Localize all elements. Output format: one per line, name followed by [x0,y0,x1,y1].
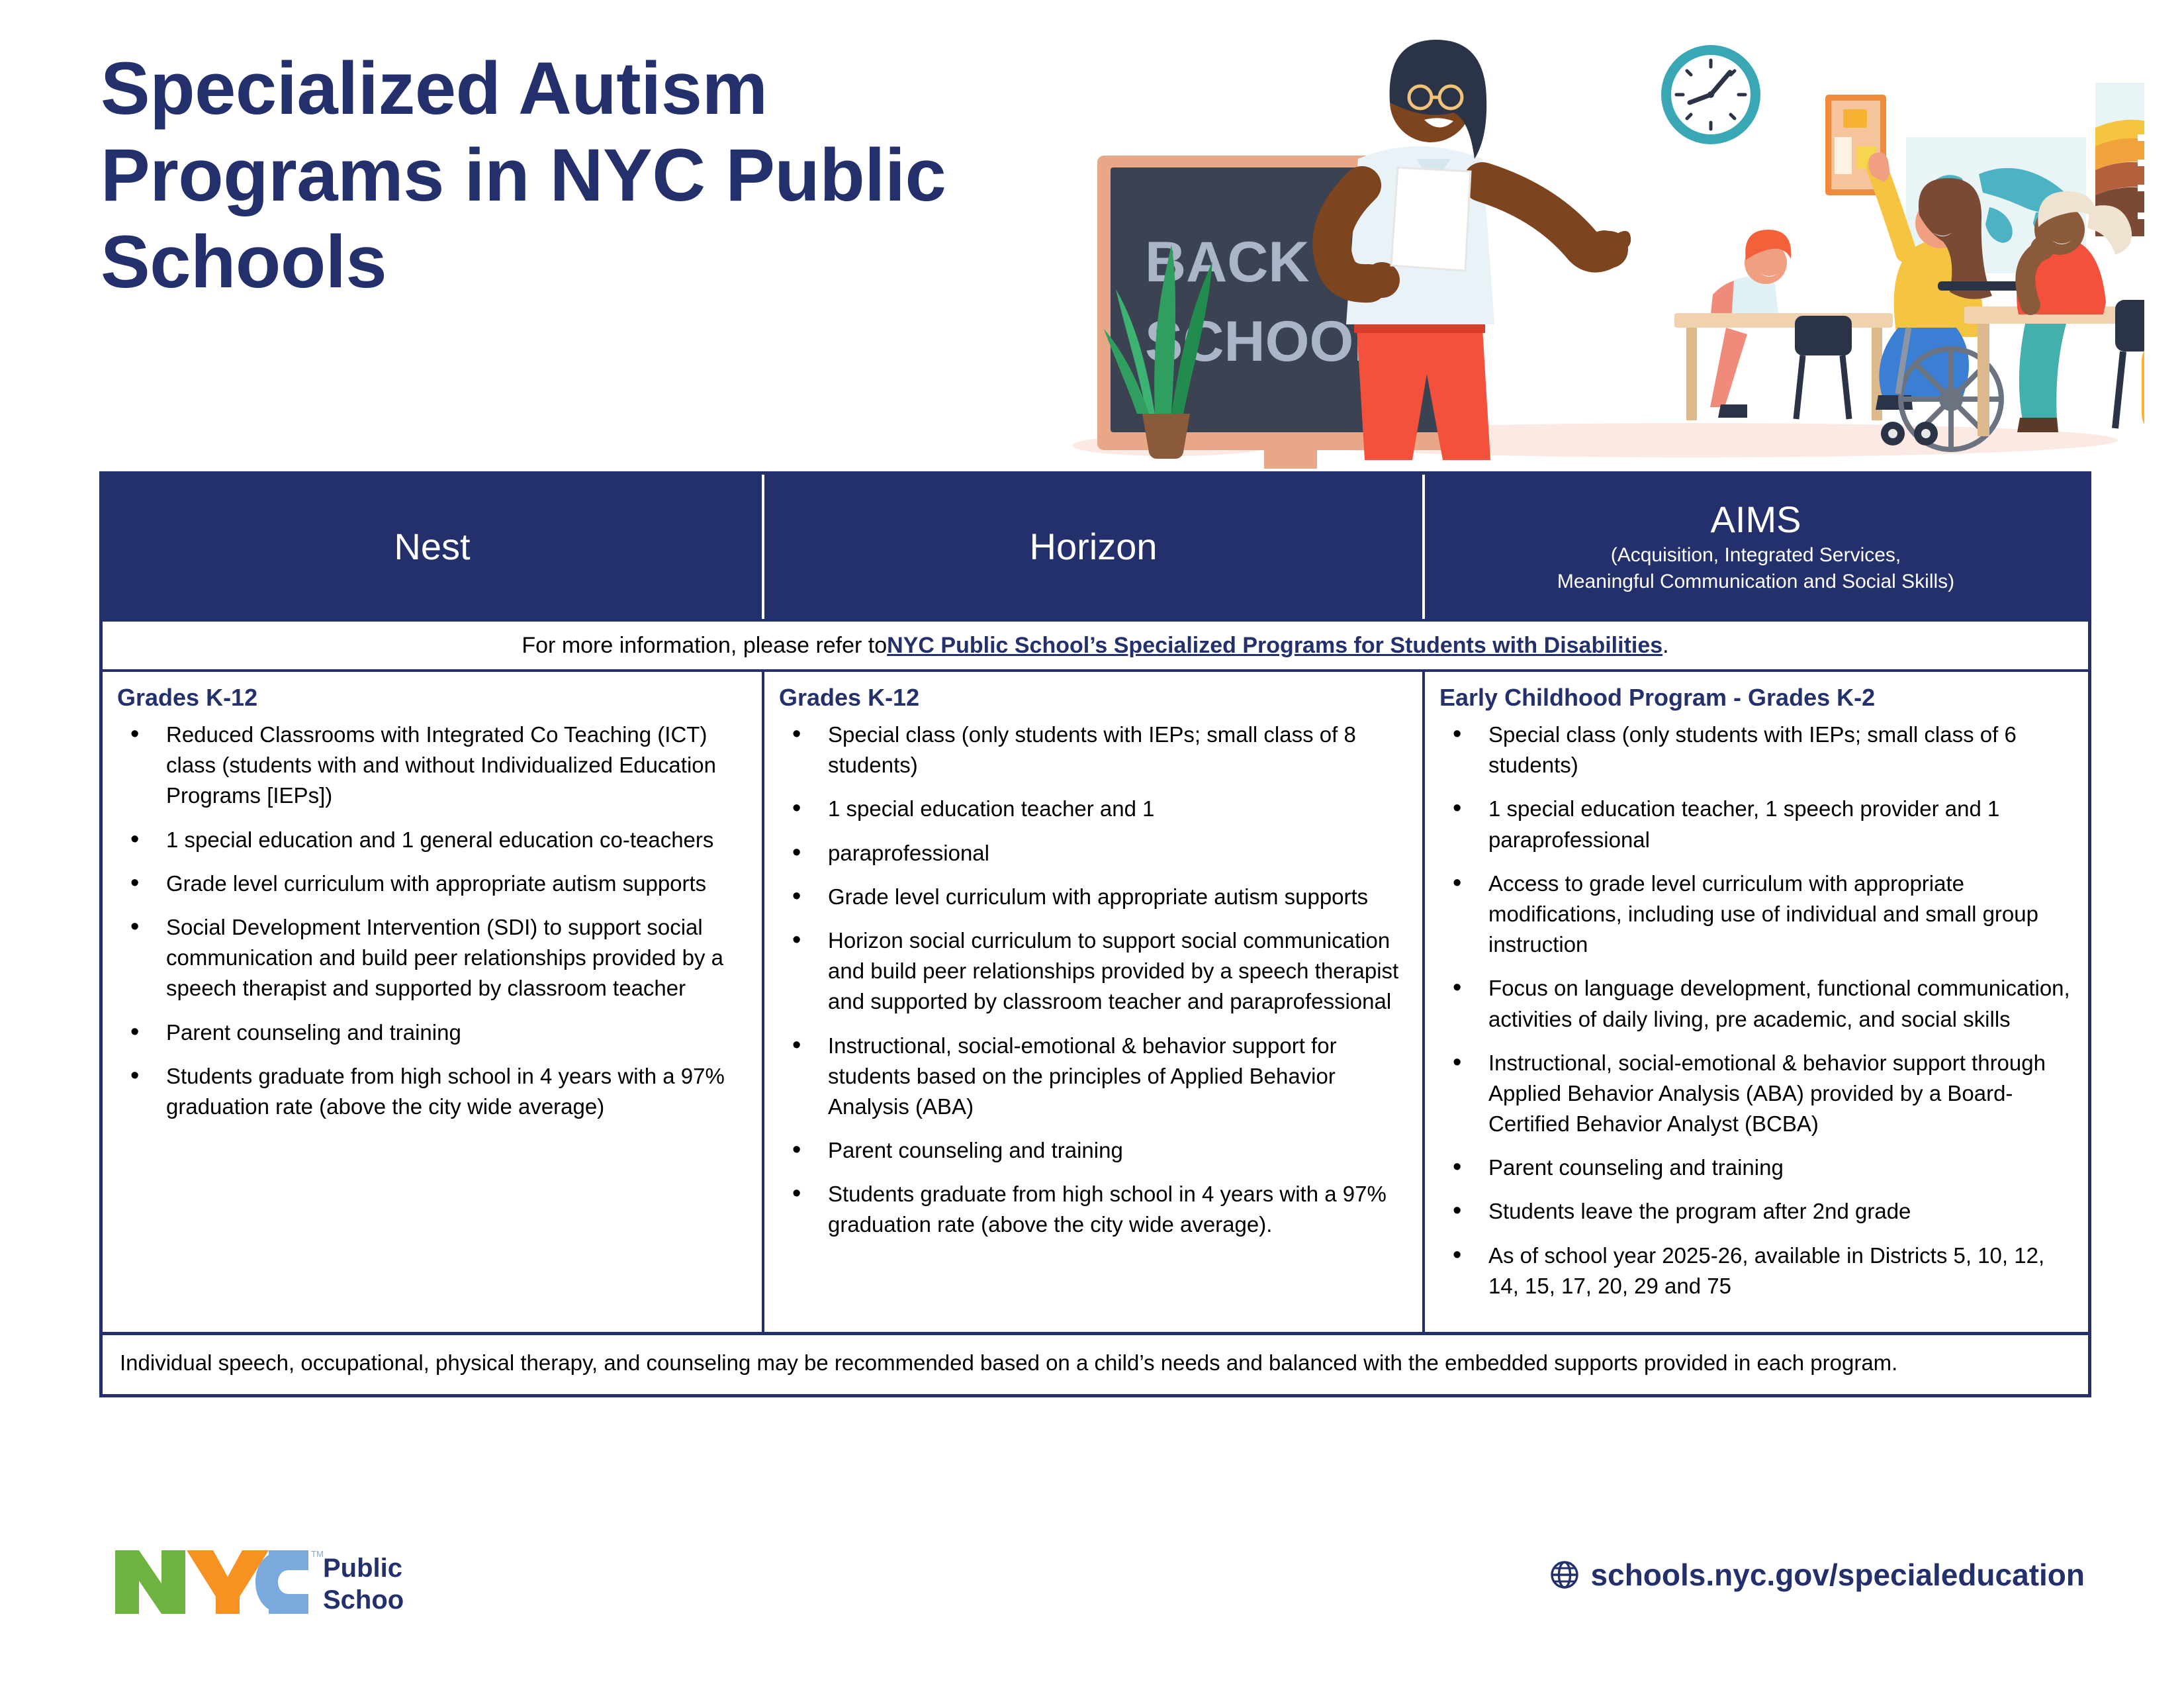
feature-bullet: Access to grade level curriculum with ap… [1439,868,2072,961]
info-suffix: . [1662,633,1668,659]
feature-bullet: 1 special education teacher, 1 speech pr… [1439,794,2072,855]
chair-center [2115,300,2144,428]
feature-bullet: Parent counseling and training [779,1135,1408,1166]
globe-icon [1550,1560,1579,1589]
column-body-horizon: Grades K-12 Special class (only students… [764,672,1425,1332]
aims-subtitle-line: Meaningful Communication and Social Skil… [1557,571,1954,592]
table-header-row: Nest Horizon AIMS (Acquisition, Integrat… [103,475,2088,619]
grades-heading-horizon: Grades K-12 [779,684,1408,712]
program-name-nest: Nest [394,526,470,567]
feature-list-nest: Reduced Classrooms with Integrated Co Te… [117,720,747,1122]
column-header-nest: Nest [103,475,764,619]
wall-clock-icon [1661,45,1760,144]
specialized-programs-link[interactable]: NYC Public School’s Specialized Programs… [887,633,1662,659]
feature-bullet: 1 special education and 1 general educat… [117,825,747,855]
teacher-figure [1332,40,1631,460]
feature-bullet: Students graduate from high school in 4 … [117,1061,747,1122]
classroom-illustration: BACK SCHOOL [953,17,2144,473]
column-body-nest: Grades K-12 Reduced Classrooms with Inte… [103,672,764,1332]
aims-subtitle-line: (Acquisition, Integrated Services, [1611,544,1901,566]
feature-bullet: Special class (only students with IEPs; … [779,720,1408,780]
feature-bullet: Focus on language development, functiona… [1439,973,2072,1034]
feature-bullet: Instructional, social-emotional & behavi… [779,1031,1408,1123]
feature-list-horizon: Special class (only students with IEPs; … [779,720,1408,1241]
feature-bullet: As of school year 2025-26, available in … [1439,1241,2072,1301]
svg-text:TM: TM [311,1549,324,1559]
desk-left [1674,313,1893,420]
table-footnote: Individual speech, occupational, physica… [103,1332,2088,1394]
column-header-horizon: Horizon [764,475,1425,619]
program-subtitle-aims: (Acquisition, Integrated Services,Meanin… [1557,542,1954,594]
feature-bullet: Horizon social curriculum to support soc… [779,925,1408,1017]
column-body-aims: Early Childhood Program - Grades K-2 Spe… [1425,672,2087,1332]
programs-comparison-table: Nest Horizon AIMS (Acquisition, Integrat… [99,471,2091,1397]
feature-bullet: Students graduate from high school in 4 … [779,1179,1408,1240]
feature-bullet: paraprofessional [779,838,1408,868]
feature-bullet: Reduced Classrooms with Integrated Co Te… [117,720,747,812]
feature-bullet: Social Development Intervention (SDI) to… [117,912,747,1004]
more-information-row: For more information, please refer to NY… [103,619,2088,672]
program-name-horizon: Horizon [1030,526,1158,567]
feature-bullet: Grade level curriculum with appropriate … [117,868,747,899]
feature-list-aims: Special class (only students with IEPs; … [1439,720,2072,1301]
logo-text-schools: Schools [323,1585,404,1615]
website-url-text[interactable]: schools.nyc.gov/specialeducation [1591,1557,2085,1593]
feature-bullet: Instructional, social-emotional & behavi… [1439,1048,2072,1140]
nyc-public-schools-logo: TM Public Schools [113,1542,404,1622]
page-footer: TM Public Schools schools.nyc.gov/specia… [0,1523,2184,1688]
feature-bullet: 1 special education teacher and 1 [779,794,1408,824]
grades-heading-aims: Early Childhood Program - Grades K-2 [1439,684,2072,712]
grades-heading-nest: Grades K-12 [117,684,747,712]
feature-bullet: Students leave the program after 2nd gra… [1439,1196,2072,1227]
info-prefix: For more information, please refer to [522,633,887,659]
chair-left [1795,316,1852,419]
program-name-aims: AIMS [1711,499,1801,540]
header-area: Specialized Autism Programs in NYC Publi… [0,0,2184,463]
feature-bullet: Parent counseling and training [1439,1152,2072,1183]
feature-bullet: Grade level curriculum with appropriate … [779,882,1408,912]
website-url-block[interactable]: schools.nyc.gov/specialeducation [1550,1557,2085,1593]
column-header-aims: AIMS (Acquisition, Integrated Services,M… [1425,475,2087,619]
page-title: Specialized Autism Programs in NYC Publi… [101,45,974,305]
logo-text-public: Public [323,1554,402,1583]
table-body-row: Grades K-12 Reduced Classrooms with Inte… [103,672,2088,1332]
feature-bullet: Parent counseling and training [117,1017,747,1048]
feature-bullet: Special class (only students with IEPs; … [1439,720,2072,780]
